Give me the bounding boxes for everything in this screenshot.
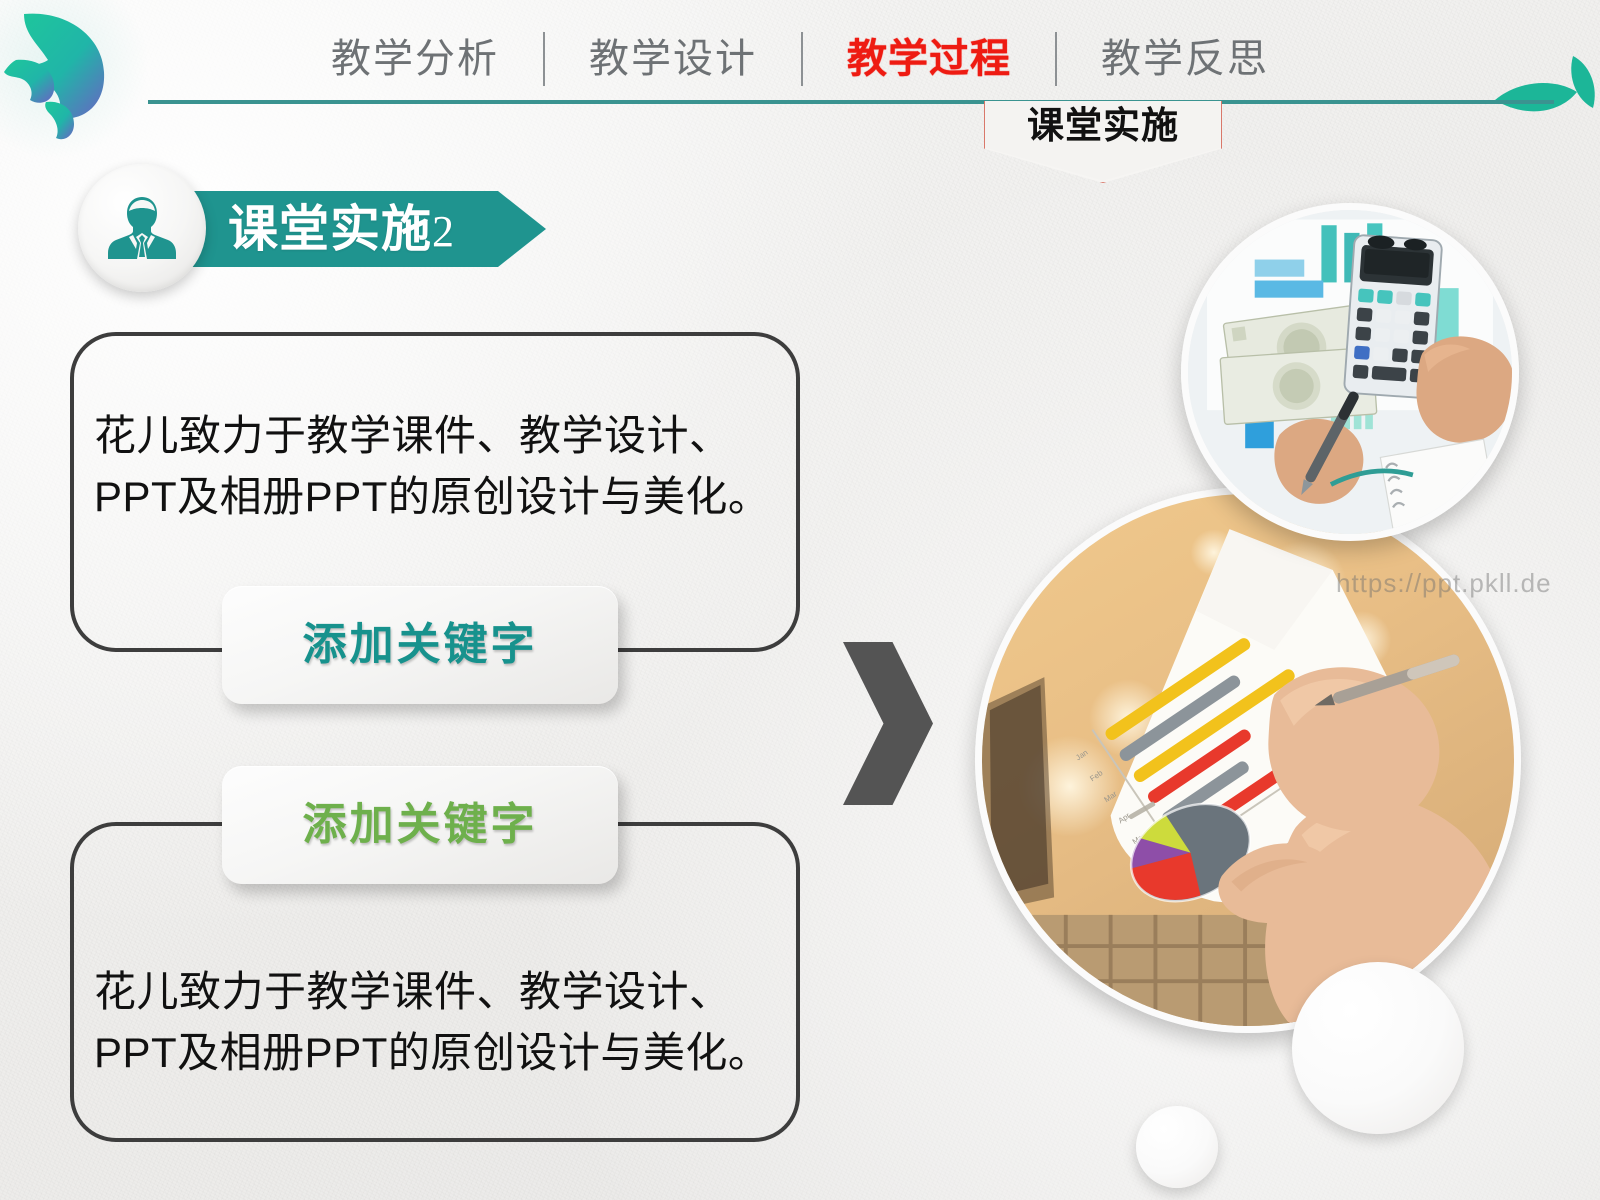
subtitle-banner-label: 课堂实施	[984, 106, 1222, 147]
section-banner-label: 课堂实施2	[228, 193, 455, 268]
calculator-money-photo	[1181, 203, 1519, 541]
tab-teaching-analysis[interactable]: 教学分析	[287, 39, 543, 79]
content-text-bottom: 花儿致力于教学课件、教学设计、 PPT及相册PPT的原创设计与美化。	[94, 962, 784, 1084]
content-text-top: 花儿致力于教学课件、教学设计、 PPT及相册PPT的原创设计与美化。	[94, 406, 784, 528]
section-number: 2	[432, 207, 455, 256]
keyword-card-label: 添加关键字	[303, 623, 538, 667]
keyword-card-teal[interactable]: 添加关键字	[222, 586, 618, 704]
nav-underline	[148, 100, 1554, 104]
tab-teaching-reflection[interactable]: 教学反思	[1057, 39, 1313, 79]
businessman-icon	[103, 187, 181, 270]
decorative-circle-small	[1136, 1106, 1218, 1188]
watermark-text: https://ppt.pkll.de	[1336, 568, 1552, 599]
tab-teaching-design[interactable]: 教学设计	[545, 39, 801, 79]
section-title-text: 课堂实施	[228, 201, 432, 257]
keyword-card-green[interactable]: 添加关键字	[222, 766, 618, 884]
section-badge	[78, 164, 206, 292]
chevron-right-icon	[843, 642, 933, 805]
tab-teaching-process[interactable]: 教学过程	[803, 39, 1055, 79]
slide-canvas: 教学分析 教学设计 教学过程 教学反思 课堂实施 课堂实施2 花儿致力于教学课件…	[0, 0, 1600, 1200]
decorative-circle-large	[1292, 962, 1464, 1134]
keyword-card-label: 添加关键字	[303, 803, 538, 847]
top-navigation: 教学分析 教学设计 教学过程 教学反思	[0, 24, 1600, 94]
